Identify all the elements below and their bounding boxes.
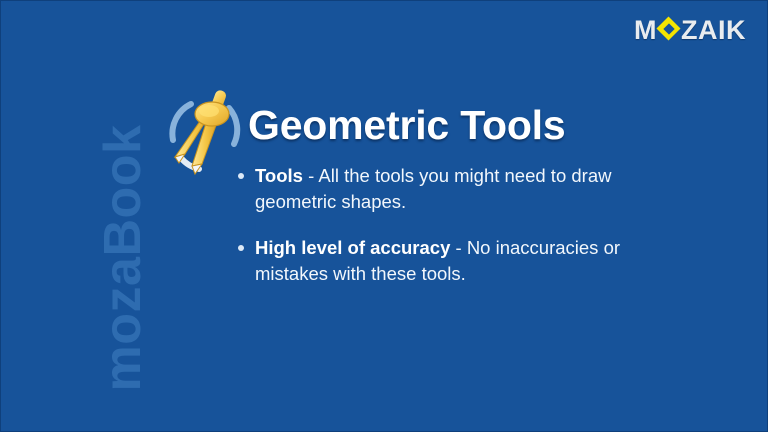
bullet-dot-icon: [238, 173, 244, 179]
sidebar-brand-watermark: mozaBook: [0, 0, 140, 432]
list-item-body: - All the tools you might need to draw g…: [255, 165, 611, 212]
logo-letter-m: M: [634, 17, 657, 44]
slide-canvas: mozaBook M ZAIK: [0, 0, 768, 432]
page-title: Geometric Tools: [248, 104, 565, 147]
list-item: High level of accuracy - No inaccuracies…: [238, 235, 658, 288]
feature-bullet-list: Tools - All the tools you might need to …: [238, 163, 658, 306]
list-item-lead: High level of accuracy: [255, 237, 450, 258]
mozaik-logo: M ZAIK: [634, 16, 746, 44]
list-item-text: High level of accuracy - No inaccuracies…: [255, 235, 658, 288]
bullet-dot-icon: [238, 245, 244, 251]
logo-diamond-icon: [658, 19, 680, 41]
list-item-text: Tools - All the tools you might need to …: [255, 163, 658, 216]
list-item: Tools - All the tools you might need to …: [238, 163, 658, 216]
list-item-lead: Tools: [255, 165, 303, 186]
logo-letters-zaik: ZAIK: [681, 17, 746, 44]
sidebar-brand-label: mozaBook: [97, 93, 149, 423]
